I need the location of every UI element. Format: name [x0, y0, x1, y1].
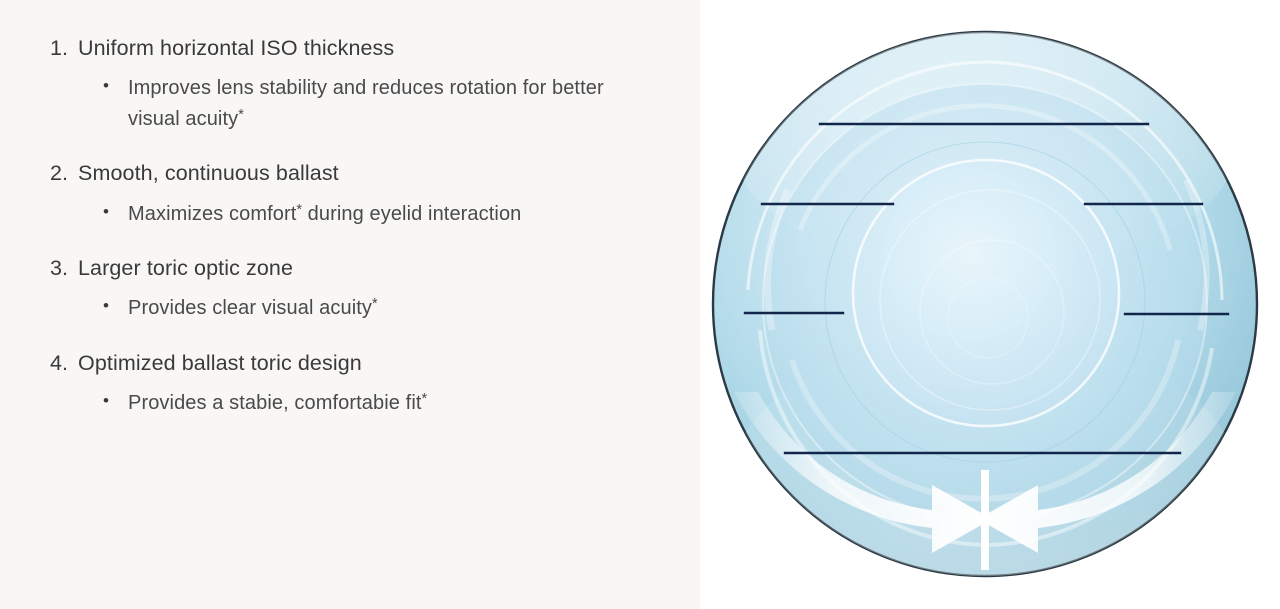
feature-bullets-4: • Provides a stabie, comfortabie fit* — [50, 388, 710, 418]
bullet-text: Maximizes comfort* during eyelid interac… — [128, 199, 628, 229]
feature-item-1: 1. Uniform horizontal ISO thickness • Im… — [50, 34, 710, 134]
feature-list: 1. Uniform horizontal ISO thickness • Im… — [50, 34, 710, 418]
bullet-text-main: Provides clear visual acuity — [128, 297, 372, 319]
feature-number-2: 2. — [50, 159, 78, 187]
feature-title-4: Optimized ballast toric design — [78, 349, 710, 377]
bullet-item: • Improves lens stability and reduces ro… — [50, 73, 710, 134]
feature-heading-1: 1. Uniform horizontal ISO thickness — [50, 34, 710, 62]
bullet-text-main: Provides a stabie, comfortabie fit — [128, 392, 422, 414]
features-text-panel: 1. Uniform horizontal ISO thickness • Im… — [0, 0, 760, 609]
feature-bullets-3: • Provides clear visual acuity* — [50, 293, 710, 323]
bullet-item: • Provides clear visual acuity* — [50, 293, 710, 323]
lens-diagram-svg — [700, 0, 1280, 609]
lens-diagram-panel: 1 2 3 4 — [700, 0, 1280, 609]
feature-item-2: 2. Smooth, continuous ballast • Maximize… — [50, 159, 710, 229]
footnote-marker: * — [422, 391, 428, 407]
bullet-dot-icon: • — [103, 199, 128, 225]
bullet-dot-icon: • — [103, 73, 128, 99]
bullet-dot-icon: • — [103, 388, 128, 414]
feature-item-4: 4. Optimized ballast toric design • Prov… — [50, 349, 710, 419]
bullet-item: • Provides a stabie, comfortabie fit* — [50, 388, 710, 418]
bullet-text: Improves lens stability and reduces rota… — [128, 73, 628, 134]
bullet-dot-icon: • — [103, 293, 128, 319]
footnote-marker: * — [372, 296, 378, 312]
feature-number-3: 3. — [50, 254, 78, 282]
bullet-item: • Maximizes comfort* during eyelid inter… — [50, 199, 710, 229]
center-tick-mark — [981, 470, 989, 570]
bullet-text: Provides a stabie, comfortabie fit* — [128, 388, 628, 418]
feature-title-2: Smooth, continuous ballast — [78, 159, 710, 187]
feature-heading-4: 4. Optimized ballast toric design — [50, 349, 710, 377]
bullet-text: Provides clear visual acuity* — [128, 293, 628, 323]
feature-bullets-2: • Maximizes comfort* during eyelid inter… — [50, 199, 710, 229]
feature-heading-3: 3. Larger toric optic zone — [50, 254, 710, 282]
feature-number-4: 4. — [50, 349, 78, 377]
feature-number-1: 1. — [50, 34, 78, 62]
feature-title-3: Larger toric optic zone — [78, 254, 710, 282]
feature-bullets-1: • Improves lens stability and reduces ro… — [50, 73, 710, 134]
feature-heading-2: 2. Smooth, continuous ballast — [50, 159, 710, 187]
bullet-text-before: Maximizes comfort — [128, 203, 296, 225]
slide-root: 1. Uniform horizontal ISO thickness • Im… — [0, 0, 1280, 609]
bullet-text-main: Improves lens stability and reduces rota… — [128, 77, 604, 129]
footnote-marker: * — [238, 107, 244, 123]
bullet-text-after: during eyelid interaction — [302, 203, 521, 225]
feature-item-3: 3. Larger toric optic zone • Provides cl… — [50, 254, 710, 324]
feature-title-1: Uniform horizontal ISO thickness — [78, 34, 710, 62]
